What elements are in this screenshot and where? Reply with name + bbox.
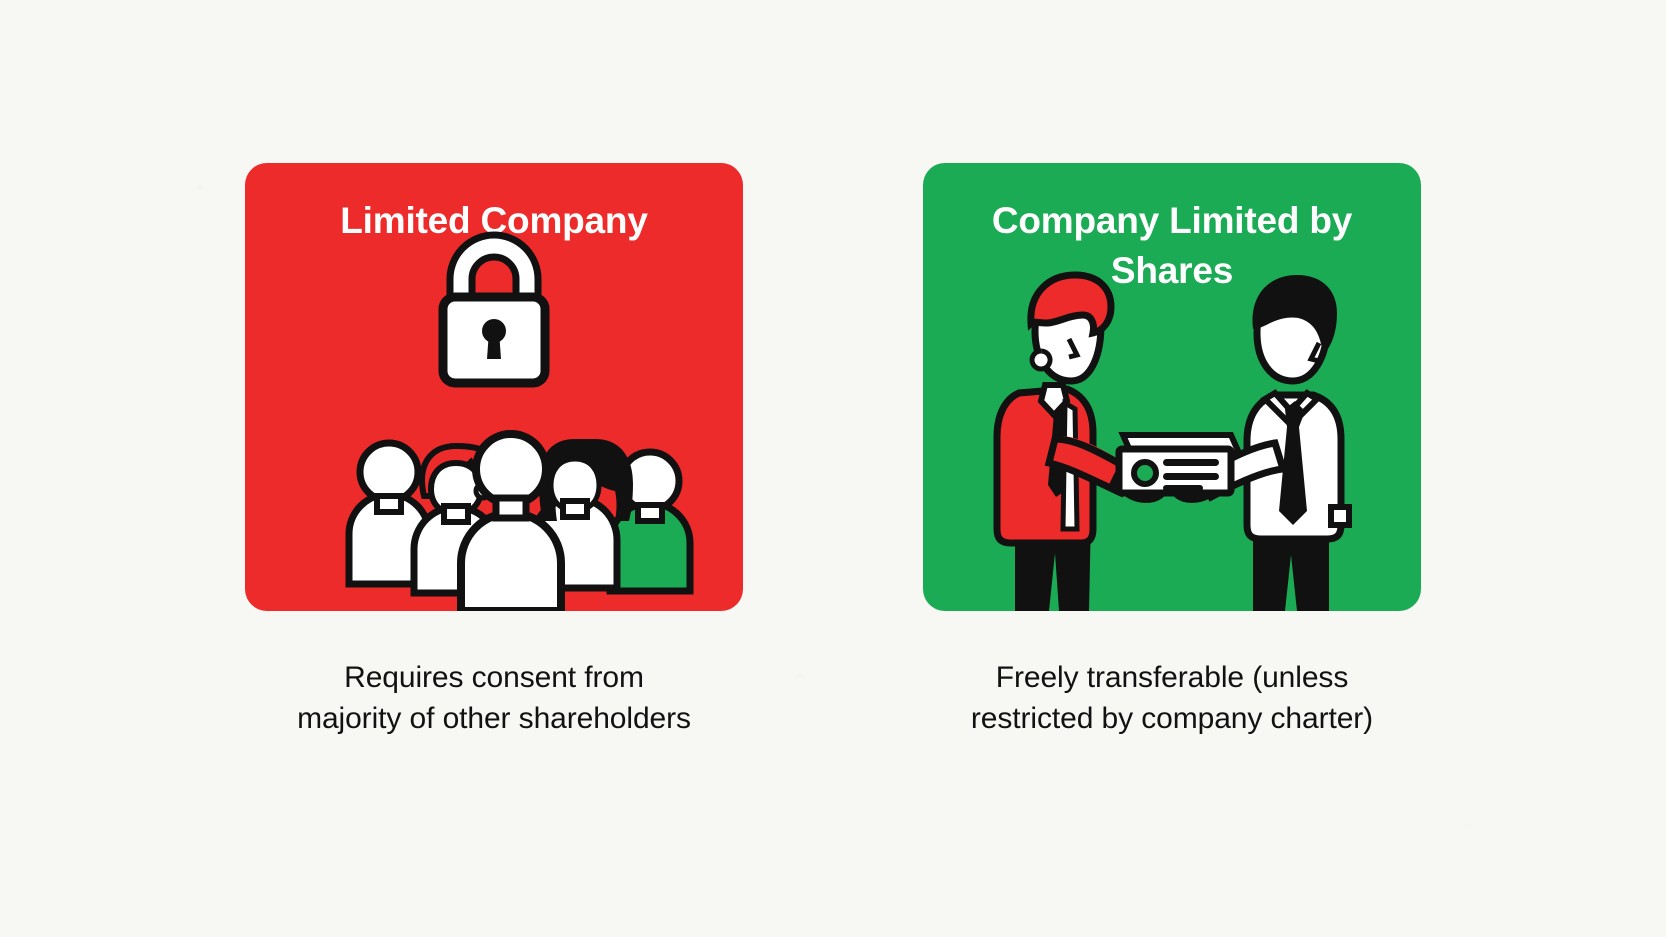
share-certificate-handover-icon [997, 275, 1349, 611]
person-center-front [461, 434, 561, 611]
lock-icon [443, 246, 545, 383]
column-company-limited-by-shares: Company Limited by Shares [922, 163, 1422, 740]
limited-company-artwork [245, 163, 743, 611]
card-limited-company[interactable]: Limited Company [245, 163, 743, 611]
card-company-limited-by-shares[interactable]: Company Limited by Shares [923, 163, 1421, 611]
caption-limited-company: Requires consent from majority of other … [297, 657, 691, 740]
people-group-icon [349, 434, 690, 611]
comparison-board: Limited Company [0, 0, 1666, 937]
share-transfer-artwork [923, 163, 1421, 611]
share-certificate-icon [1119, 435, 1239, 493]
caption-company-limited-by-shares: Freely transferable (unless restricted b… [971, 657, 1373, 740]
column-limited-company: Limited Company [244, 163, 744, 740]
